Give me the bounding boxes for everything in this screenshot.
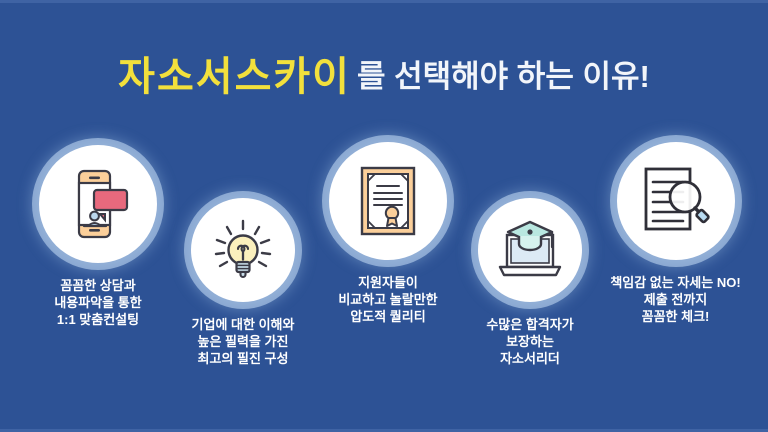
document-magnifier-check-icon (641, 165, 711, 237)
feature-item-2: 기업에 대한 이해와 높은 필력을 가진 최고의 필진 구성 (158, 198, 328, 367)
feature-caption-1: 꼼꼼한 상담과 내용파악을 통한 1:1 맞춤컨설팅 (18, 277, 178, 328)
caption-line: 높은 필력을 가진 (158, 333, 328, 350)
icon-bubble-3 (329, 142, 447, 260)
feature-caption-2: 기업에 대한 이해와 높은 필력을 가진 최고의 필진 구성 (158, 316, 328, 367)
slide-title: 자소서스카이를 선택해야 하는 이유! (0, 44, 768, 102)
caption-line: 내용파악을 통한 (18, 294, 178, 311)
caption-line: 제출 전까지 (588, 291, 763, 308)
laptop-graduation-cap-icon (495, 219, 565, 281)
feature-caption-3: 지원자들이 비교하고 놀랄만한 압도적 퀄리티 (308, 274, 468, 325)
icon-bubble-2 (191, 198, 295, 302)
icon-bubble-5 (617, 142, 735, 260)
caption-line: 꼼꼼한 상담과 (18, 277, 178, 294)
lightbulb-idea-icon (211, 218, 275, 282)
caption-line: 비교하고 놀랄만한 (308, 291, 468, 308)
promo-slide: 자소서스카이를 선택해야 하는 이유! 꼼꼼한 상담과 내용파악 (0, 0, 768, 432)
certificate-award-icon (359, 165, 417, 237)
caption-line: 책임감 없는 자세는 NO! (588, 274, 763, 291)
top-edge-line (0, 0, 768, 3)
caption-line: 보장하는 (445, 333, 615, 350)
feature-item-1: 꼼꼼한 상담과 내용파악을 통한 1:1 맞춤컨설팅 (18, 145, 178, 328)
caption-line: 기업에 대한 이해와 (158, 316, 328, 333)
feature-caption-5: 책임감 없는 자세는 NO! 제출 전까지 꼼꼼한 체크! (588, 274, 763, 325)
caption-line: 최고의 필진 구성 (158, 350, 328, 367)
caption-line: 꼼꼼한 체크! (588, 308, 763, 325)
feature-item-3: 지원자들이 비교하고 놀랄만한 압도적 퀄리티 (308, 142, 468, 325)
caption-line: 지원자들이 (308, 274, 468, 291)
icon-bubble-4 (478, 198, 582, 302)
title-remainder: 를 선택해야 하는 이유! (357, 59, 650, 94)
icon-bubble-1 (39, 145, 157, 263)
caption-line: 압도적 퀄리티 (308, 308, 468, 325)
brand-name: 자소서스카이 (118, 55, 351, 99)
caption-line: 1:1 맞춤컨설팅 (18, 311, 178, 328)
caption-line: 자소서리더 (445, 350, 615, 367)
smartphone-chat-consulting-icon (67, 168, 129, 240)
feature-item-5: 책임감 없는 자세는 NO! 제출 전까지 꼼꼼한 체크! (588, 142, 763, 325)
